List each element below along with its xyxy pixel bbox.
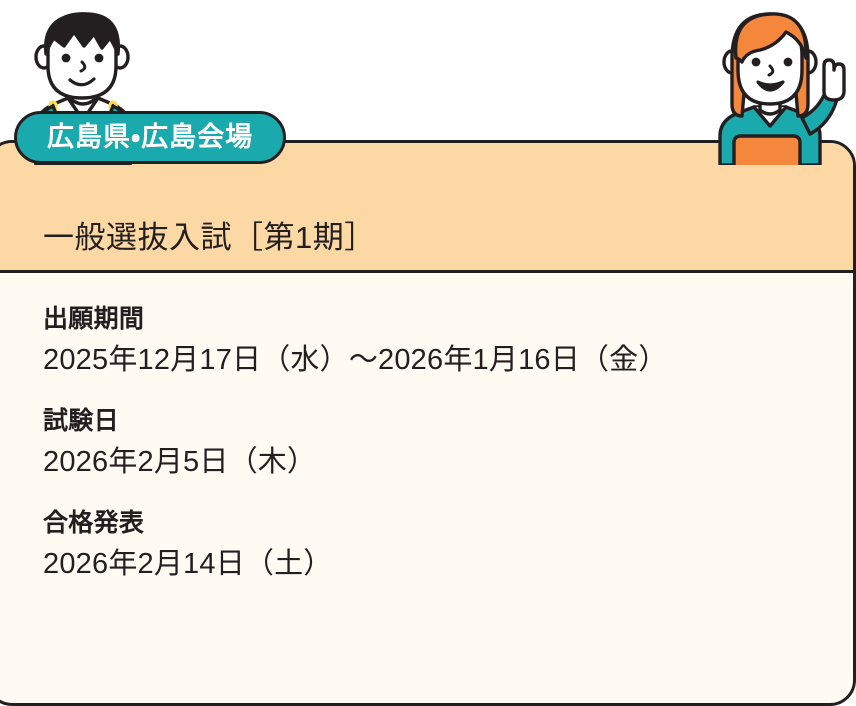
raised-arm [802,90,838,134]
card-body: 出願期間 2025年12月17日（水）〜2026年1月16日（金） 試験日 20… [0,273,853,585]
nose [81,62,85,71]
eye-right [95,54,104,63]
schedule-entry: 出願期間 2025年12月17日（水）〜2026年1月16日（金） [43,303,853,381]
card-title: 一般選抜入試［第1期］ [43,219,376,256]
region-badge: 広島県・広島会場 [14,111,286,164]
head [738,20,802,104]
entry-value-result-announcement: 2026年2月14日（土） [43,544,853,585]
eye-right [784,58,793,67]
admission-schedule-card: 一般選抜入試［第1期］ 出願期間 2025年12月17日（水）〜2026年1月1… [0,0,856,706]
neck [72,84,94,104]
eye-left [752,58,761,67]
ear-left [724,51,740,73]
collar [754,107,786,126]
hair-front [736,14,806,62]
entry-label-result-announcement: 合格発表 [43,507,853,541]
ear-right [800,51,816,73]
hair [46,14,119,54]
schedule-card: 一般選抜入試［第1期］ 出願期間 2025年12月17日（水）〜2026年1月1… [0,140,856,706]
schedule-entry: 合格発表 2026年2月14日（土） [43,507,853,585]
entry-value-application-period: 2025年12月17日（水）〜2026年1月16日（金） [43,340,853,381]
hair-back [732,14,808,116]
mouth [70,79,94,85]
ear-left [36,46,52,68]
entry-label-exam-date: 試験日 [43,405,853,439]
nose [769,66,773,75]
eye-left [62,54,71,63]
neck [760,94,780,114]
schedule-entry: 試験日 2026年2月5日（木） [43,405,853,483]
ear-right [112,46,128,68]
head [48,14,116,98]
region-badge-label: 広島県・広島会場 [47,124,253,151]
entry-value-exam-date: 2026年2月5日（木） [43,442,853,483]
mouth [758,82,783,90]
entry-label-application-period: 出願期間 [43,303,853,337]
raised-hand [824,60,844,100]
